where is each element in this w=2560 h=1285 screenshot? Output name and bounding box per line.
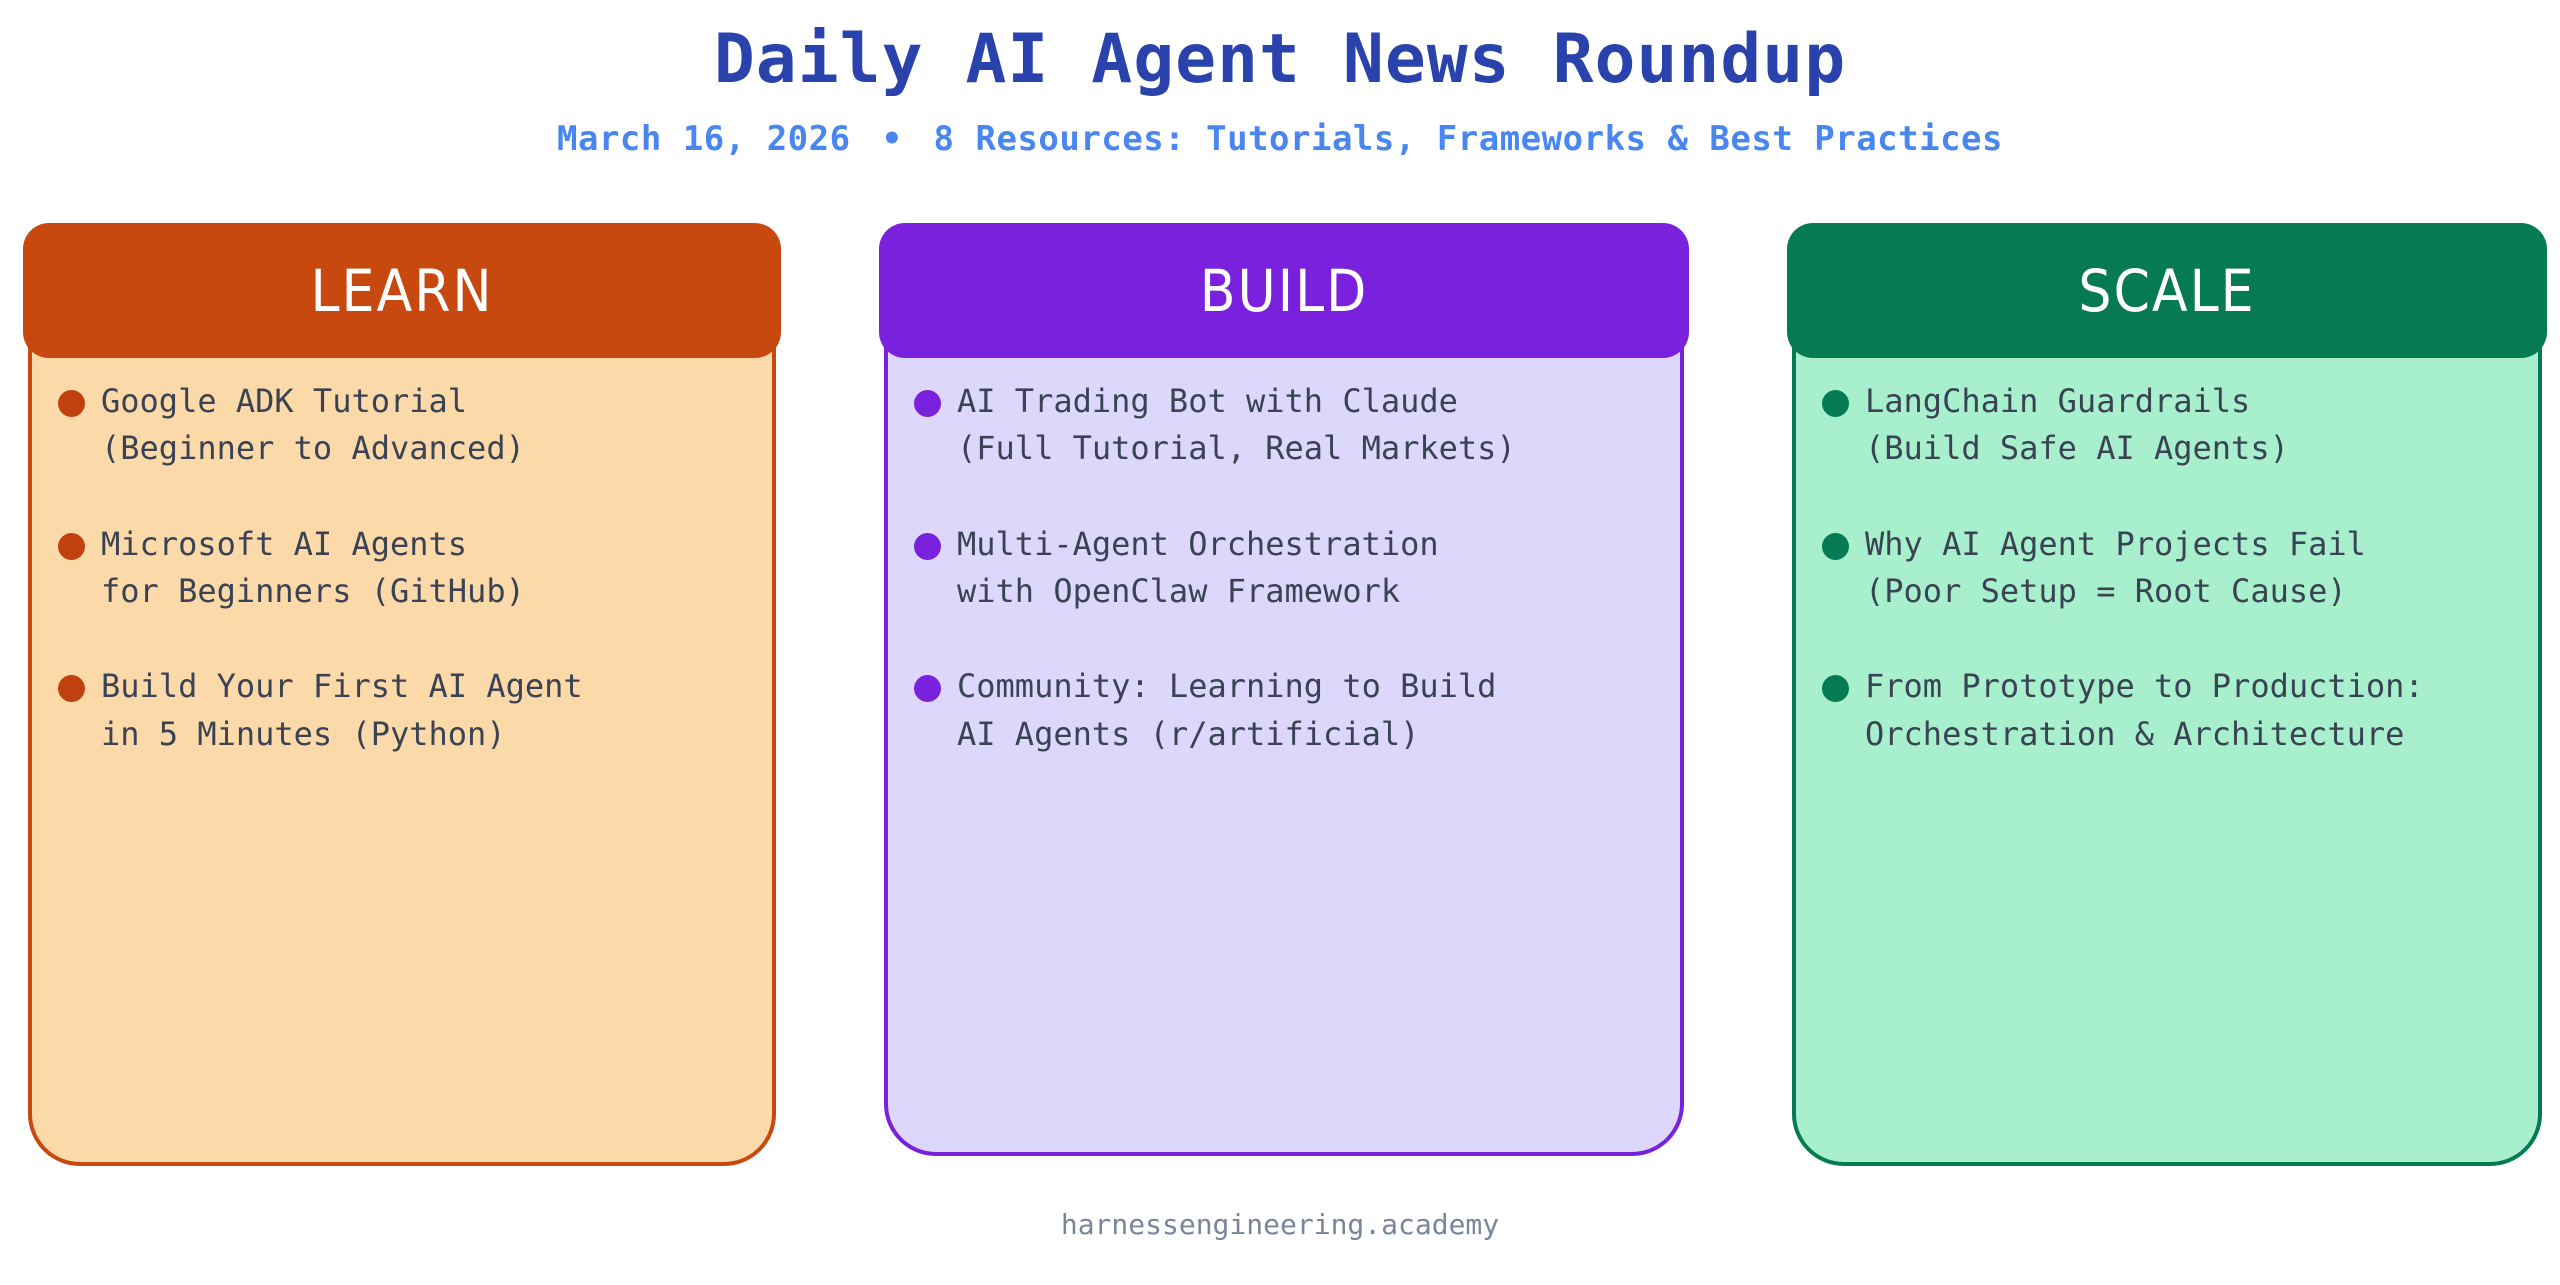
bullet-icon: [1822, 533, 1849, 560]
list-item[interactable]: LangChain Guardrails (Build Safe AI Agen…: [1822, 378, 2516, 473]
bullet-icon: [1822, 390, 1849, 417]
list-item[interactable]: Microsoft AI Agents for Beginners (GitHu…: [58, 521, 750, 616]
card-learn-header: LEARN: [23, 223, 781, 358]
list-item[interactable]: Multi-Agent Orchestration with OpenClaw …: [914, 521, 1658, 616]
list-item-label: LangChain Guardrails (Build Safe AI Agen…: [1865, 378, 2289, 473]
bullet-icon: [1822, 675, 1849, 702]
list-item[interactable]: Google ADK Tutorial (Beginner to Advance…: [58, 378, 750, 473]
list-item[interactable]: AI Trading Bot with Claude (Full Tutoria…: [914, 378, 1658, 473]
bullet-icon: [58, 390, 85, 417]
list-item-label: Build Your First AI Agent in 5 Minutes (…: [101, 663, 583, 758]
subtitle-separator-icon: •: [872, 122, 913, 156]
card-learn-title: LEARN: [311, 262, 494, 320]
list-item[interactable]: Build Your First AI Agent in 5 Minutes (…: [58, 663, 750, 758]
card-build-title: BUILD: [1200, 262, 1369, 320]
list-item-label: Multi-Agent Orchestration with OpenClaw …: [957, 521, 1439, 616]
page-subtitle: March 16, 2026 • 8 Resources: Tutorials,…: [0, 122, 2560, 156]
card-scale-list: LangChain Guardrails (Build Safe AI Agen…: [1792, 378, 2542, 806]
bullet-icon: [914, 533, 941, 560]
subtitle-summary: 8 Resources: Tutorials, Frameworks & Bes…: [934, 119, 2003, 159]
bullet-icon: [914, 390, 941, 417]
card-build-header: BUILD: [879, 223, 1689, 358]
list-item[interactable]: Community: Learning to Build AI Agents (…: [914, 663, 1658, 758]
columns-container: LEARN Google ADK Tutorial (Beginner to A…: [0, 228, 2560, 1228]
bullet-icon: [58, 533, 85, 560]
footer-site-label: harnessengineering.academy: [1061, 1208, 1499, 1241]
list-item-label: From Prototype to Production: Orchestrat…: [1865, 663, 2424, 758]
subtitle-date: March 16, 2026: [557, 119, 851, 159]
card-scale-header: SCALE: [1787, 223, 2547, 358]
page-title: Daily AI Agent News Roundup: [0, 26, 2560, 94]
list-item-label: AI Trading Bot with Claude (Full Tutoria…: [957, 378, 1516, 473]
bullet-icon: [58, 675, 85, 702]
page-header: Daily AI Agent News Roundup March 16, 20…: [0, 0, 2560, 156]
list-item-label: Google ADK Tutorial (Beginner to Advance…: [101, 378, 525, 473]
list-item-label: Community: Learning to Build AI Agents (…: [957, 663, 1496, 758]
list-item[interactable]: Why AI Agent Projects Fail (Poor Setup =…: [1822, 521, 2516, 616]
card-learn-list: Google ADK Tutorial (Beginner to Advance…: [28, 378, 776, 806]
list-item-label: Microsoft AI Agents for Beginners (GitHu…: [101, 521, 525, 616]
page-footer: harnessengineering.academy: [0, 1208, 2560, 1241]
list-item-label: Why AI Agent Projects Fail (Poor Setup =…: [1865, 521, 2366, 616]
card-scale-title: SCALE: [2078, 262, 2255, 320]
list-item[interactable]: From Prototype to Production: Orchestrat…: [1822, 663, 2516, 758]
card-build-list: AI Trading Bot with Claude (Full Tutoria…: [884, 378, 1684, 806]
bullet-icon: [914, 675, 941, 702]
